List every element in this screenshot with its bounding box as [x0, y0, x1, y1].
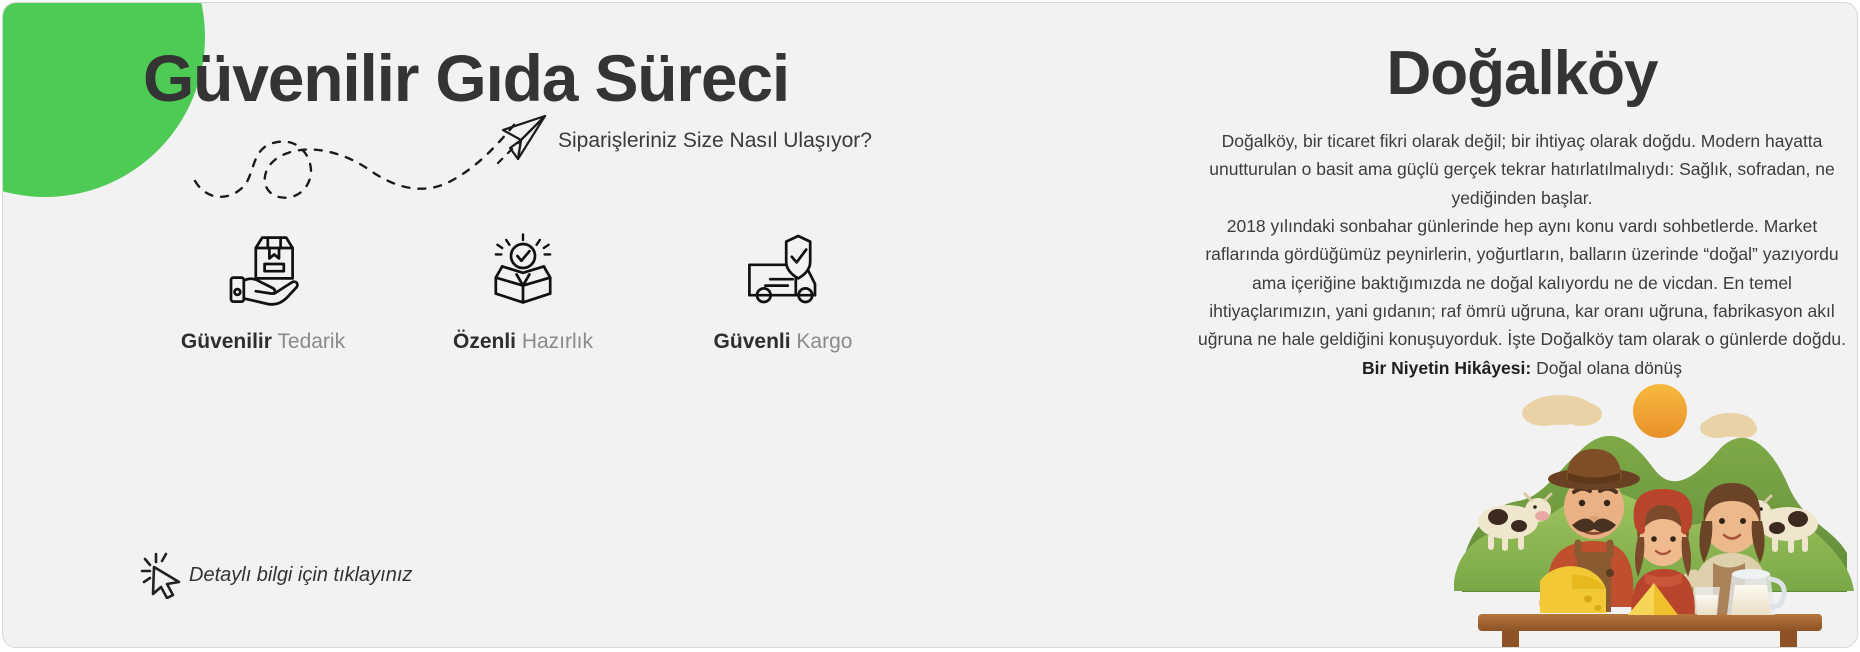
paper-plane-icon — [491, 111, 551, 171]
dashed-curve-path — [193, 115, 523, 210]
brand-paragraph: 2018 yılındaki sonbahar günlerinde hep a… — [1196, 212, 1848, 354]
step-item[interactable]: Güvenli Kargo — [653, 228, 913, 354]
step-item[interactable]: Güvenilir Tedarik — [133, 228, 393, 354]
step-label-strong: Özenli — [453, 330, 516, 353]
step-label-strong: Güvenli — [714, 330, 791, 353]
left-panel: Güvenilir Gıda Süreci Siparişleriniz Siz… — [3, 3, 1003, 647]
page-title: Güvenilir Gıda Süreci — [143, 45, 789, 111]
right-panel: Doğalköy Doğalköy, bir ticaret fikri ola… — [1188, 3, 1856, 647]
step-label-rest: Hazırlık — [516, 330, 593, 353]
brand-description: Doğalköy, bir ticaret fikri olarak değil… — [1196, 127, 1848, 382]
open-box-check-icon — [483, 228, 563, 308]
step-label-rest: Tedarik — [272, 330, 345, 353]
step-item[interactable]: Özenli Hazırlık — [393, 228, 653, 354]
promo-banner: Güvenilir Gıda Süreci Siparişleriniz Siz… — [2, 2, 1858, 648]
truck-shield-check-icon — [743, 228, 823, 308]
step-label: Özenli Hazırlık — [453, 330, 593, 354]
process-steps: Güvenilir Tedarik Özenli Hazırlık — [133, 228, 913, 354]
brand-tagline-rest: Doğal olana dönüş — [1531, 358, 1682, 378]
brand-tagline: Bir Niyetin Hikâyesi: Doğal olana dönüş — [1196, 354, 1848, 382]
farm-family-cheese-milk-illustration — [1432, 377, 1858, 647]
brand-title: Doğalköy — [1188, 3, 1856, 105]
details-cta[interactable]: Detaylı bilgi için tıklayınız — [139, 551, 412, 599]
details-cta-label: Detaylı bilgi için tıklayınız — [189, 564, 412, 587]
step-label: Güvenli Kargo — [714, 330, 853, 354]
subtitle: Siparişleriniz Size Nasıl Ulaşıyor? — [558, 129, 872, 153]
brand-tagline-strong: Bir Niyetin Hikâyesi: — [1362, 358, 1531, 378]
hand-holding-box-icon — [223, 228, 303, 308]
step-label: Güvenilir Tedarik — [181, 330, 345, 354]
brand-paragraph: Doğalköy, bir ticaret fikri olarak değil… — [1196, 127, 1848, 212]
step-label-strong: Güvenilir — [181, 330, 272, 353]
click-cursor-icon — [139, 551, 185, 599]
step-label-rest: Kargo — [791, 330, 853, 353]
